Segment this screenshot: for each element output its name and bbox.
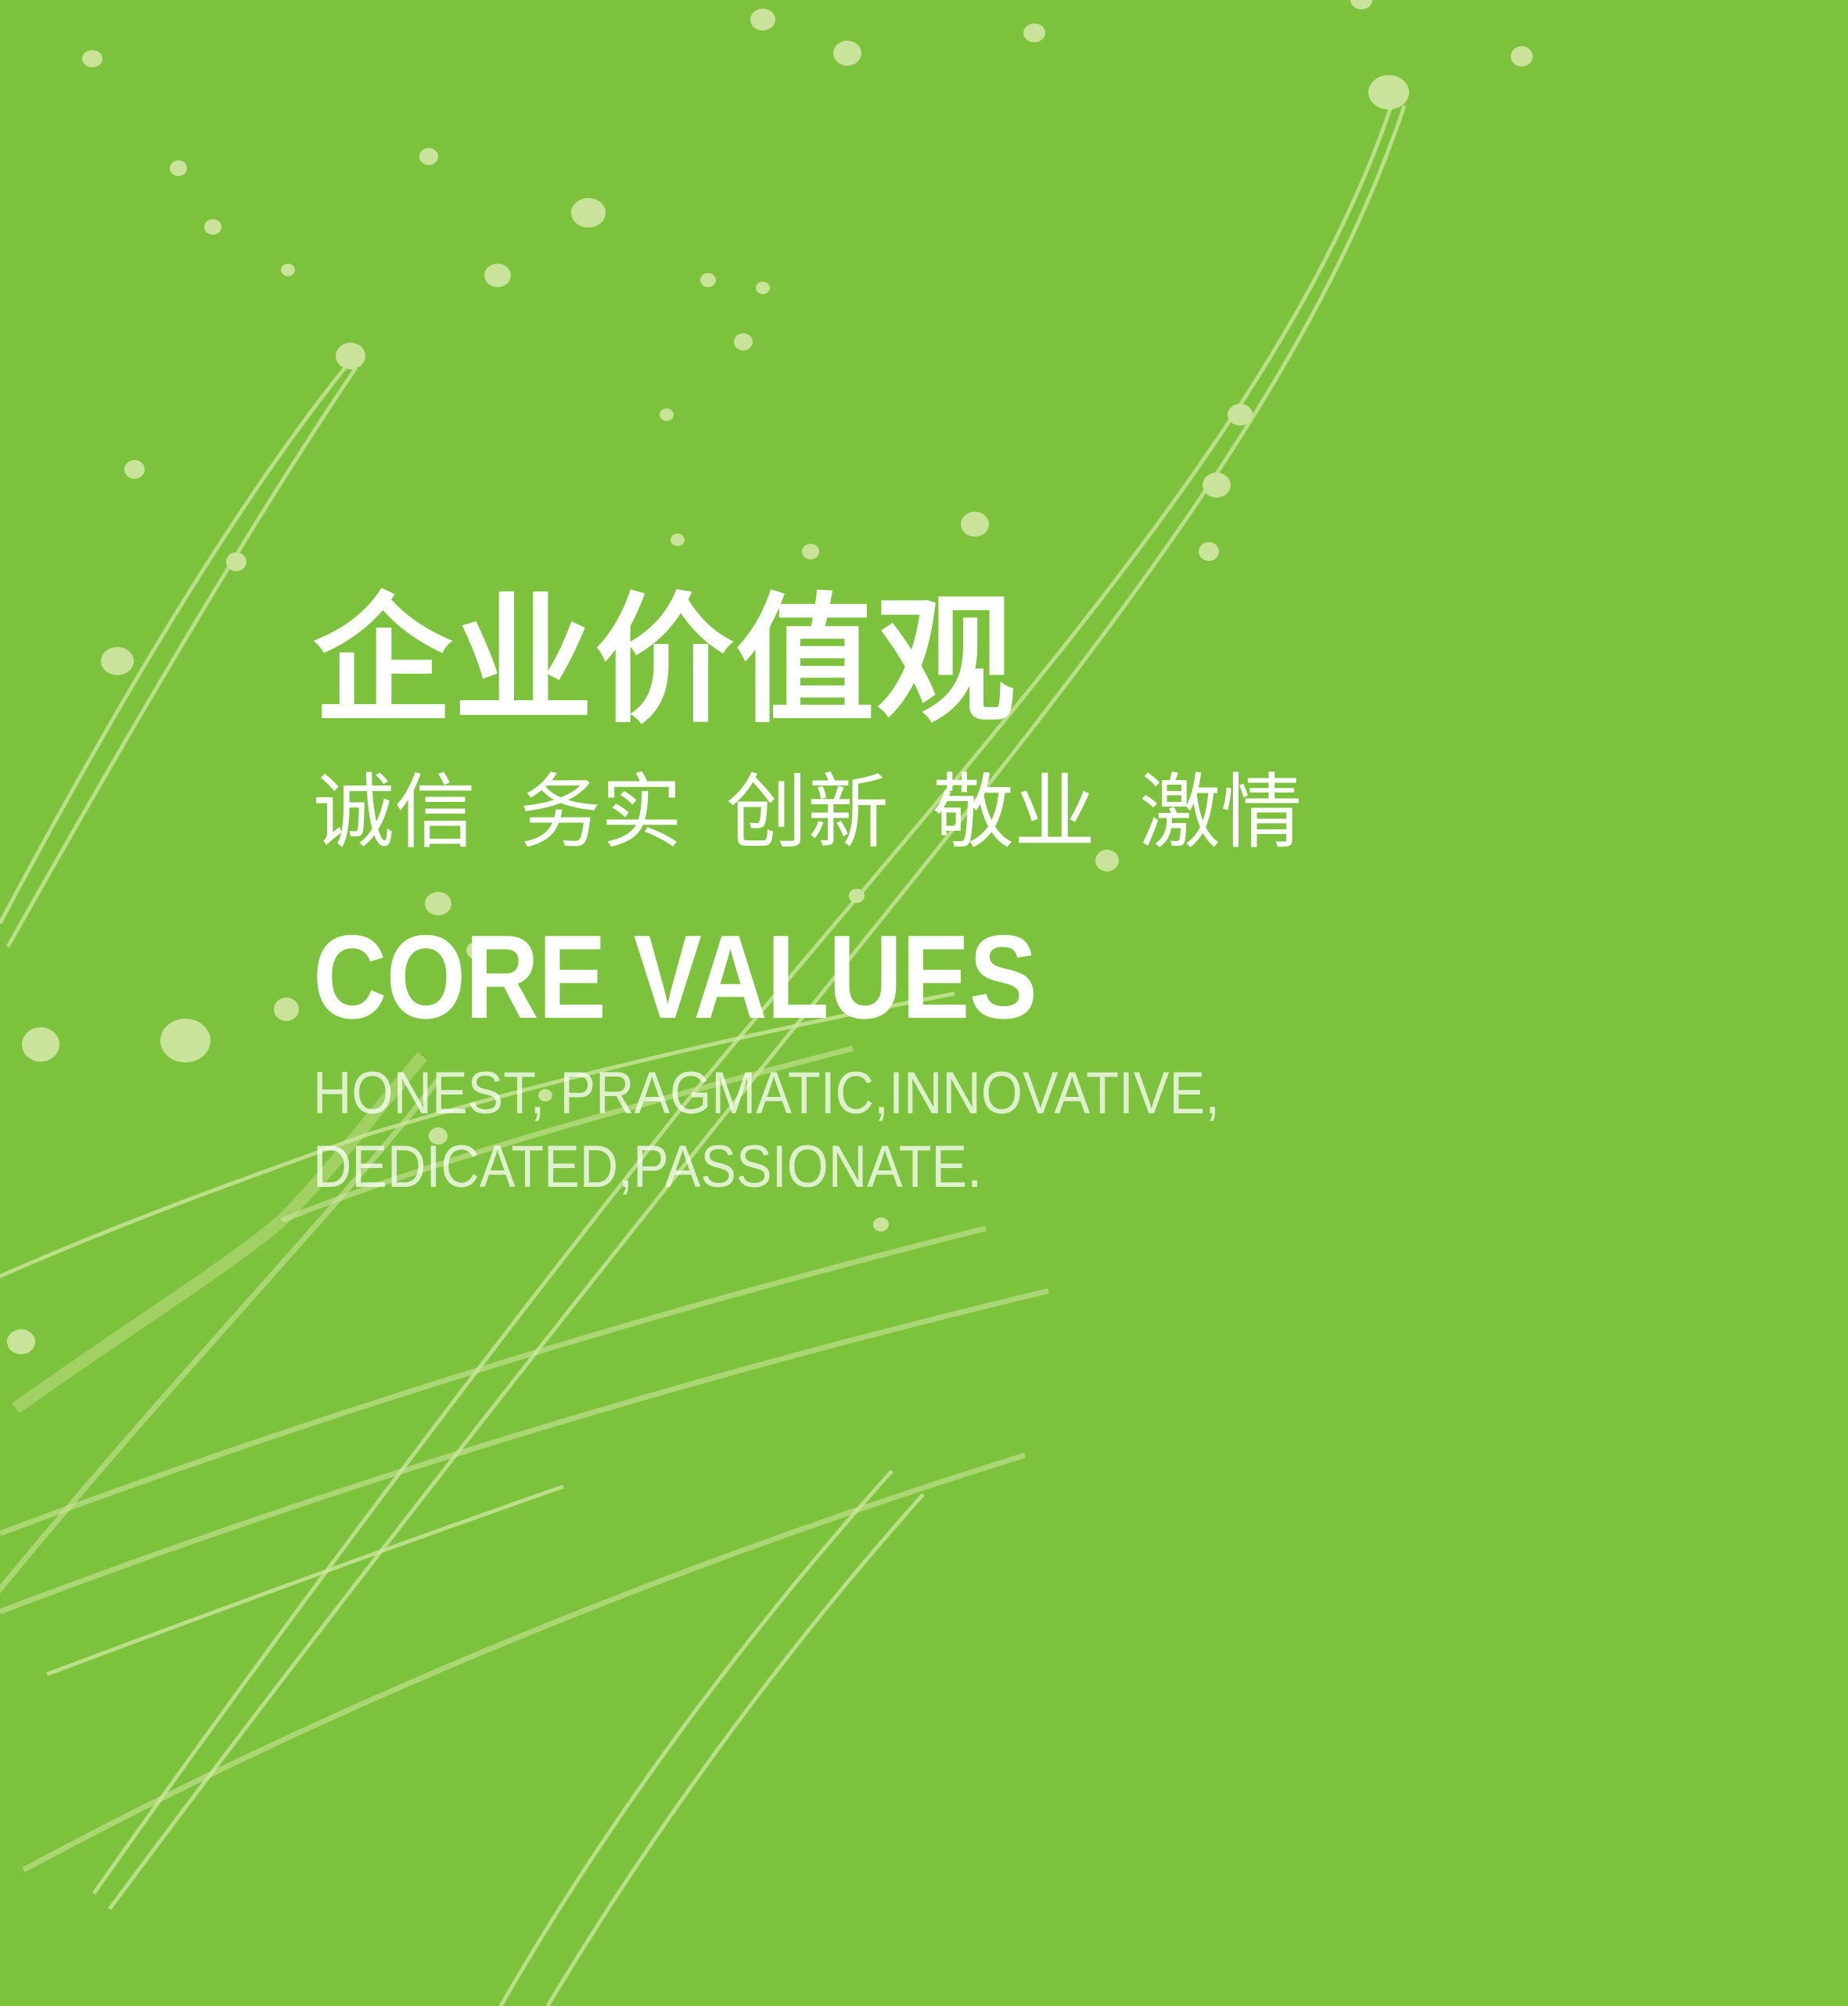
core-values-chinese-list: 诚信务实创新敬业激情 (313, 757, 1721, 867)
page-title-english: CORE VALUES (313, 918, 1524, 1037)
text-block: 企业价值观 诚信务实创新敬业激情 CORE VALUES HONEST, PRA… (313, 583, 1721, 1204)
subtitle-line-2: DEDICATED,PASSIONATE. (313, 1131, 1580, 1204)
value-item-5: 激情 (1139, 764, 1302, 860)
core-values-english-list: HONEST, PRAGMATIC,INNOVATIVE, DEDICATED,… (313, 1057, 1580, 1204)
page-title-chinese: 企业价值观 (313, 583, 1721, 739)
value-item-4: 敬业 (933, 764, 1095, 860)
core-values-poster: .ln { fill:none; stroke:#cfe8a2; stroke-… (0, 0, 1848, 2006)
value-item-2: 务实 (520, 764, 682, 860)
value-item-3: 创新 (726, 764, 889, 860)
subtitle-line-1: HONEST, PRAGMATIC,INNOVATIVE, (313, 1057, 1580, 1131)
value-item-1: 诚信 (313, 764, 476, 860)
